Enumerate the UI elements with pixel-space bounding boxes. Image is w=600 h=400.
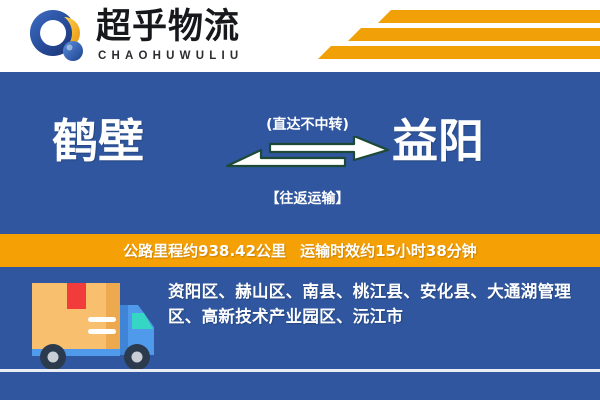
stripe-3 [318, 46, 600, 59]
brand-name-cn: 超乎物流 [96, 8, 240, 46]
distance-text: 公路里程约938.42公里 [123, 242, 286, 260]
coverage-section: 资阳区、赫山区、南县、桃江县、安化县、大通湖管理区、高新技术产业园区、沅江市 [0, 267, 600, 400]
round-trip-note: 【往返运输】 [225, 188, 390, 208]
diagonal-stripes-icon [310, 8, 600, 66]
origin-city: 鹤壁 [52, 112, 144, 170]
coverage-areas-text: 资阳区、赫山区、南县、桃江县、安化县、大通湖管理区、高新技术产业园区、沅江市 [168, 279, 580, 329]
brand-name-en: CHAOHUWULIU [98, 50, 243, 62]
distance-duration-bar: 公路里程约938.42公里运输时效约15小时38分钟 [0, 234, 600, 267]
double-headed-arrow-icon [225, 136, 390, 180]
route-middle: (直达不中转) 【往返运输】 [225, 104, 390, 219]
stripe-1 [378, 10, 600, 23]
delivery-truck-icon [14, 277, 164, 377]
stripe-2 [348, 28, 600, 41]
direct-service-note: (直达不中转) [225, 114, 390, 134]
banner-header: 超乎物流 CHAOHUWULIU [0, 0, 600, 72]
logistics-route-banner: 超乎物流 CHAOHUWULIU 鹤壁 (直达不中转) 【往返运输】 益 [0, 0, 600, 400]
duration-text: 运输时效约15小时38分钟 [300, 242, 477, 260]
infobar-text: 公路里程约938.42公里运输时效约15小时38分钟 [123, 240, 477, 261]
ring-crescent-logo-icon [28, 8, 90, 64]
brand-logo: 超乎物流 CHAOHUWULIU [28, 6, 278, 68]
road-line [0, 369, 600, 372]
destination-city: 益阳 [392, 112, 484, 170]
route-section: 鹤壁 (直达不中转) 【往返运输】 益阳 [0, 72, 600, 234]
